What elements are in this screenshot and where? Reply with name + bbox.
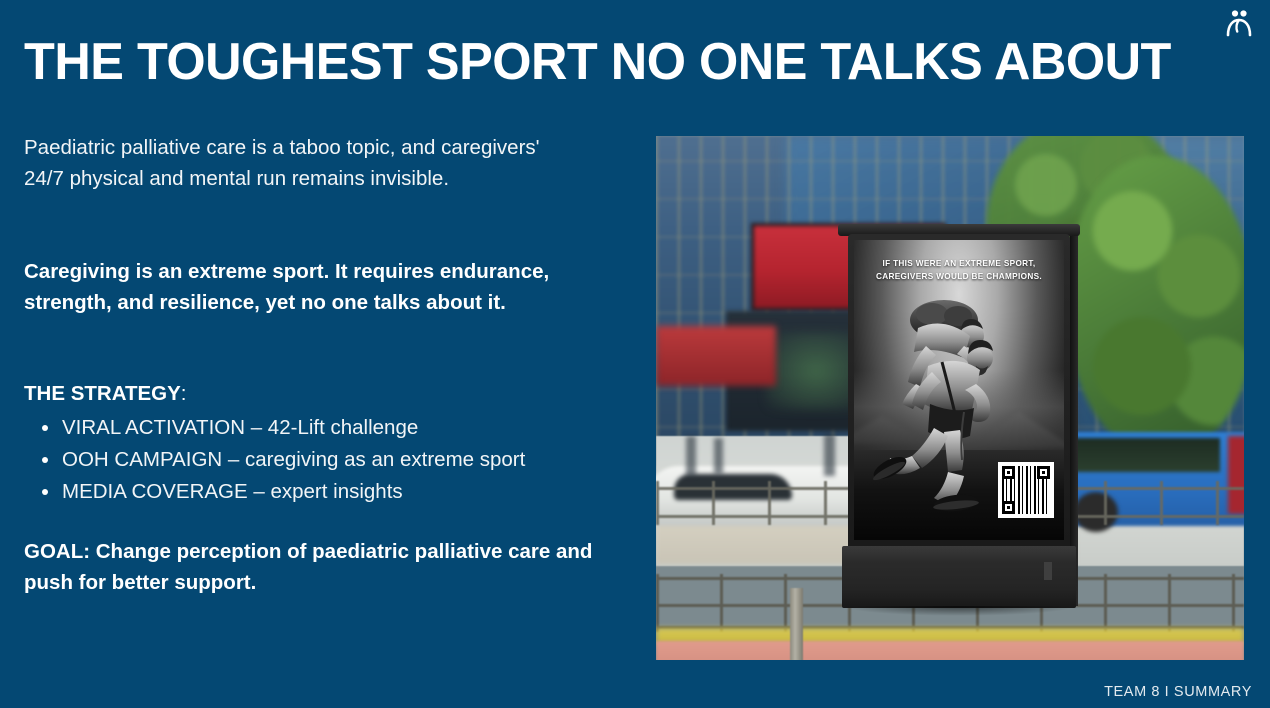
billboard-screen: IF THIS WERE AN EXTREME SPORT, CAREGIVER… — [854, 240, 1064, 540]
strategy-heading: THE STRATEGY: — [24, 380, 624, 408]
list-item: OOH CAMPAIGN – caregiving as an extreme … — [24, 444, 624, 476]
billboard-headline: IF THIS WERE AN EXTREME SPORT, CAREGIVER… — [854, 258, 1064, 283]
slide-canvas: THE TOUGHEST SPORT NO ONE TALKS ABOUT Pa… — [0, 0, 1270, 708]
qr-code[interactable] — [998, 462, 1054, 518]
digital-billboard: IF THIS WERE AN EXTREME SPORT, CAREGIVER… — [848, 224, 1070, 614]
goal-paragraph: GOAL: Change perception of paediatric pa… — [24, 536, 624, 598]
pedestrian — [686, 436, 696, 476]
list-item-label: OOH CAMPAIGN – caregiving as an extreme … — [62, 448, 525, 471]
bus-windows — [1060, 438, 1220, 472]
list-item: MEDIA COVERAGE – expert insights — [24, 476, 624, 508]
strategy-label: THE STRATEGY — [24, 382, 181, 405]
billboard-base — [842, 546, 1076, 608]
qr-finder-pattern — [1002, 501, 1015, 514]
billboard-headline-line-2: CAREGIVERS WOULD BE CHAMPIONS. — [854, 271, 1064, 284]
list-item-label: VIRAL ACTIVATION – 42-Lift challenge — [62, 416, 418, 439]
pedestrian — [824, 434, 835, 476]
pink-cycle-lane — [656, 641, 1244, 660]
tree — [1066, 156, 1244, 456]
slide-footer: TEAM 8 I SUMMARY — [1104, 684, 1252, 700]
billboard-headline-line-1: IF THIS WERE AN EXTREME SPORT, — [854, 258, 1064, 271]
strategy-colon: : — [181, 382, 187, 405]
bullet-icon — [42, 457, 48, 463]
spacer — [24, 318, 624, 380]
billboard-mockup-photo: IF THIS WERE AN EXTREME SPORT, CAREGIVER… — [656, 136, 1244, 660]
qr-finder-pattern — [1037, 466, 1050, 479]
strategy-list: VIRAL ACTIVATION – 42-Lift challenge OOH… — [24, 412, 624, 508]
red-awning — [656, 326, 776, 386]
qr-code-pattern — [1002, 466, 1050, 514]
intro-paragraph: Paediatric palliative care is a taboo to… — [24, 133, 584, 194]
pedestrian — [714, 438, 723, 474]
bullet-icon — [42, 489, 48, 495]
insight-paragraph: Caregiving is an extreme sport. It requi… — [24, 256, 624, 318]
list-item-label: MEDIA COVERAGE – expert insights — [62, 480, 403, 503]
two-people-logo-icon — [1224, 8, 1254, 38]
content-column: Paediatric palliative care is a taboo to… — [24, 133, 624, 598]
qr-finder-pattern — [1002, 466, 1015, 479]
bullet-icon — [42, 425, 48, 431]
billboard-base-vent — [1044, 562, 1052, 580]
page-title: THE TOUGHEST SPORT NO ONE TALKS ABOUT — [24, 32, 1198, 92]
list-item: VIRAL ACTIVATION – 42-Lift challenge — [24, 412, 624, 444]
bollard — [790, 588, 803, 660]
spacer — [24, 508, 624, 536]
spacer — [24, 194, 624, 256]
billboard-ground-shadow — [842, 606, 1076, 616]
